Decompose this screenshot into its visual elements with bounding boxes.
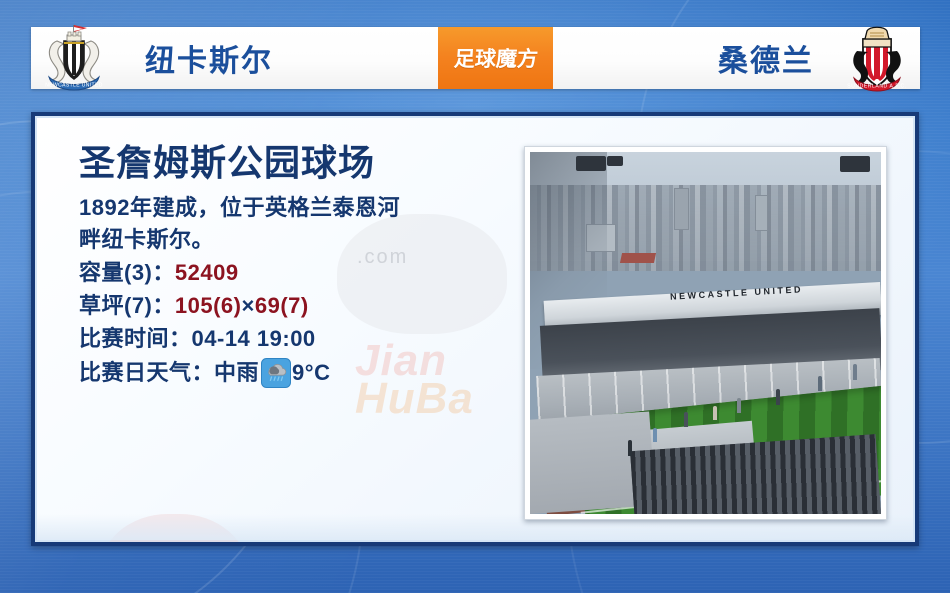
stadium-photo-frame: NEWCASTLE UNITED	[524, 146, 887, 520]
photo-spectator	[653, 428, 657, 442]
site-logo-text: 足球魔方	[452, 43, 538, 73]
stadium-description-line-2: 畔纽卡斯尔。	[79, 224, 489, 256]
kickoff-time-row: 比赛时间： 04-14 19:00	[79, 322, 489, 355]
photo-spectator	[684, 412, 688, 427]
pitch-size-row: 草坪(7)： 105(6) × 69(7)	[79, 289, 489, 322]
capacity-label: 容量(3)：	[79, 256, 175, 289]
stadium-info-card: HHuBa .com .com .com 欢乐吧 Jian HuBa 圣詹姆斯公…	[31, 112, 919, 546]
matchday-weather-label: 比赛日天气：	[79, 356, 214, 389]
stadium-info-column: 圣詹姆斯公园球场 1892年建成，位于英格兰泰恩河 畔纽卡斯尔。 容量(3)： …	[37, 118, 489, 540]
pitch-width-value: 69(7)	[255, 289, 309, 322]
photo-speaker-3	[840, 156, 870, 172]
st-james-park-photo: NEWCASTLE UNITED	[530, 152, 881, 514]
away-team-block[interactable]: 桑德兰 SUNDE	[718, 27, 920, 89]
matchday-weather-row: 比赛日天气： 中雨	[79, 356, 489, 389]
photo-speaker-2	[607, 156, 623, 166]
photo-red-roof-building	[620, 253, 656, 263]
rain-cloud-icon	[261, 358, 291, 388]
sunderland-afc-crest-icon: SUNDERLAND A.F.C.	[840, 21, 914, 95]
svg-text:SUNDERLAND A.F.C.: SUNDERLAND A.F.C.	[847, 84, 906, 90]
photo-tower-1	[674, 188, 689, 230]
photo-speaker-1	[576, 156, 606, 171]
stadium-info-card-inner: HHuBa .com .com .com 欢乐吧 Jian HuBa 圣詹姆斯公…	[35, 116, 915, 542]
home-team-block[interactable]: NEWCASTLE UNITED 纽卡斯尔	[31, 27, 273, 89]
stadium-name-title: 圣詹姆斯公园球场	[79, 144, 489, 182]
photo-spectator	[713, 406, 717, 420]
kickoff-time-value: 04-14 19:00	[192, 322, 316, 355]
match-stadium-infographic: NEWCASTLE UNITED 纽卡斯尔 足球魔方 桑德兰	[0, 0, 950, 593]
kickoff-time-label: 比赛时间：	[79, 322, 192, 355]
site-logo[interactable]: 足球魔方	[438, 27, 553, 89]
photo-tower-2	[755, 195, 768, 231]
photo-spectator	[818, 376, 822, 391]
photo-spectator	[737, 398, 741, 413]
capacity-value: 52409	[175, 256, 239, 289]
pitch-size-label: 草坪(7)：	[79, 289, 175, 322]
away-team-name: 桑德兰	[718, 36, 814, 80]
photo-spectator	[628, 440, 632, 456]
match-header-bar: NEWCASTLE UNITED 纽卡斯尔 足球魔方 桑德兰	[31, 27, 920, 89]
temperature-value: 9°C	[292, 356, 330, 389]
pitch-size-separator: ×	[241, 289, 254, 322]
photo-spectator	[853, 364, 857, 380]
home-team-name: 纽卡斯尔	[145, 36, 273, 80]
photo-spectator	[776, 389, 780, 405]
pitch-length-value: 105(6)	[175, 289, 242, 322]
weather-condition-value: 中雨	[214, 356, 259, 389]
capacity-row: 容量(3)： 52409	[79, 256, 489, 289]
stadium-description-line-1: 1892年建成，位于英格兰泰恩河	[79, 192, 489, 224]
newcastle-united-crest-icon: NEWCASTLE UNITED	[37, 21, 111, 95]
svg-text:NEWCASTLE UNITED: NEWCASTLE UNITED	[45, 83, 103, 89]
